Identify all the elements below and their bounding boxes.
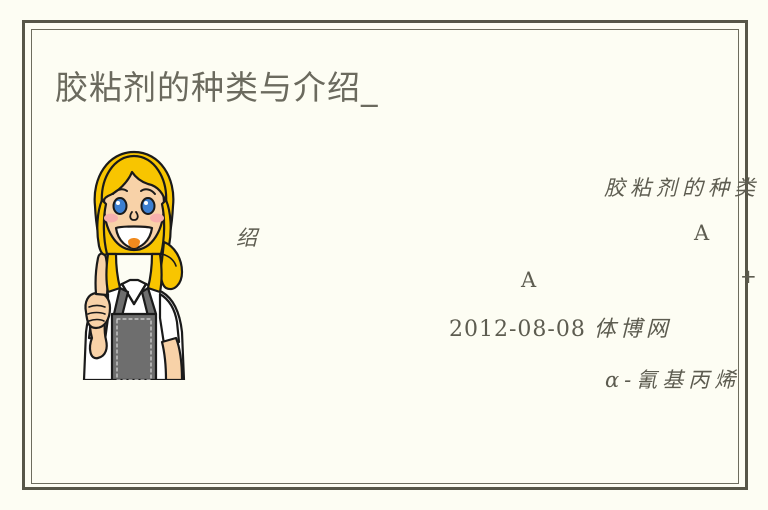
cheek-left (104, 214, 118, 223)
hair-strand-front-right (148, 254, 162, 292)
fragment-letter-a-right: A (694, 221, 711, 245)
eye-highlight-left (116, 201, 120, 205)
poster-canvas: 胶粘剂的种类与介绍_ 胶粘剂的种类 绍 A A + 2012-08-08 体博网… (0, 0, 768, 510)
arm-lowered (162, 338, 182, 380)
eye-highlight-right (144, 201, 148, 205)
fragment-heading-echo: 胶粘剂的种类 (604, 172, 760, 202)
source-site: 体博网 (594, 317, 672, 342)
fragment-chemical-name: α-氰基丙烯 (605, 364, 740, 394)
fist (85, 293, 110, 328)
cheek-right (150, 214, 164, 223)
hair-ponytail (161, 242, 182, 289)
eye-left (114, 198, 127, 214)
fragment-character-shao: 绍 (236, 222, 262, 252)
publish-date: 2012-08-08 (449, 317, 586, 342)
page-title: 胶粘剂的种类与介绍_ (55, 66, 379, 110)
fragment-plus-mark: + (740, 264, 757, 288)
fragment-date-source: 2012-08-08 体博网 (449, 311, 672, 343)
apron-bib (112, 314, 156, 380)
fragment-letter-a-middle: A (521, 268, 538, 292)
eye-right (142, 198, 155, 214)
cartoon-girl-illustration (72, 142, 196, 380)
hair-strand-front-left (107, 254, 121, 292)
shirt-sleeve-right (160, 294, 179, 344)
